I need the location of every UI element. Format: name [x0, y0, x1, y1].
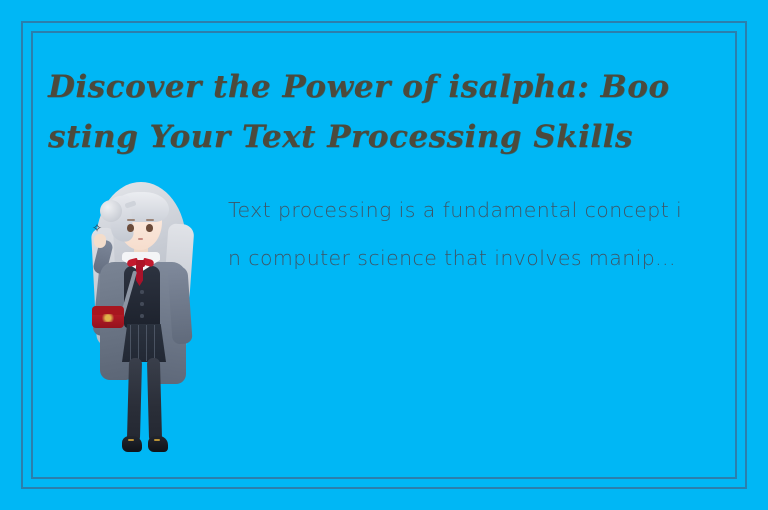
skirt-pleat [154, 325, 155, 361]
hand [94, 234, 106, 248]
vest-button [140, 314, 144, 318]
eye-right [146, 224, 153, 232]
hair-bun [100, 200, 122, 222]
mouth [138, 238, 143, 240]
sparkle-icon: ✧ [92, 222, 104, 234]
poster-canvas: Discover the Power of isalpha: Boo sting… [0, 0, 768, 510]
skirt-pleat [130, 325, 131, 361]
body-paragraph: Text processing is a fundamental concept… [228, 186, 690, 282]
page-title: Discover the Power of isalpha: Boo sting… [48, 62, 688, 162]
shoe-buckle-left [128, 439, 134, 441]
anime-girl-character: ✧ [72, 178, 212, 458]
ribbon-knot [136, 260, 145, 267]
eyebrow-right [146, 219, 154, 221]
vest-button [140, 302, 144, 306]
shoe-buckle-right [154, 439, 160, 441]
vest-button [140, 290, 144, 294]
skirt-pleat [138, 325, 139, 361]
eyebrow-left [127, 219, 135, 221]
skirt-pleat [146, 325, 147, 361]
leg-right [147, 358, 162, 442]
leg-left [127, 358, 142, 442]
pleated-skirt [122, 324, 166, 362]
bag-decoration [100, 314, 116, 322]
eye-left [127, 224, 134, 232]
